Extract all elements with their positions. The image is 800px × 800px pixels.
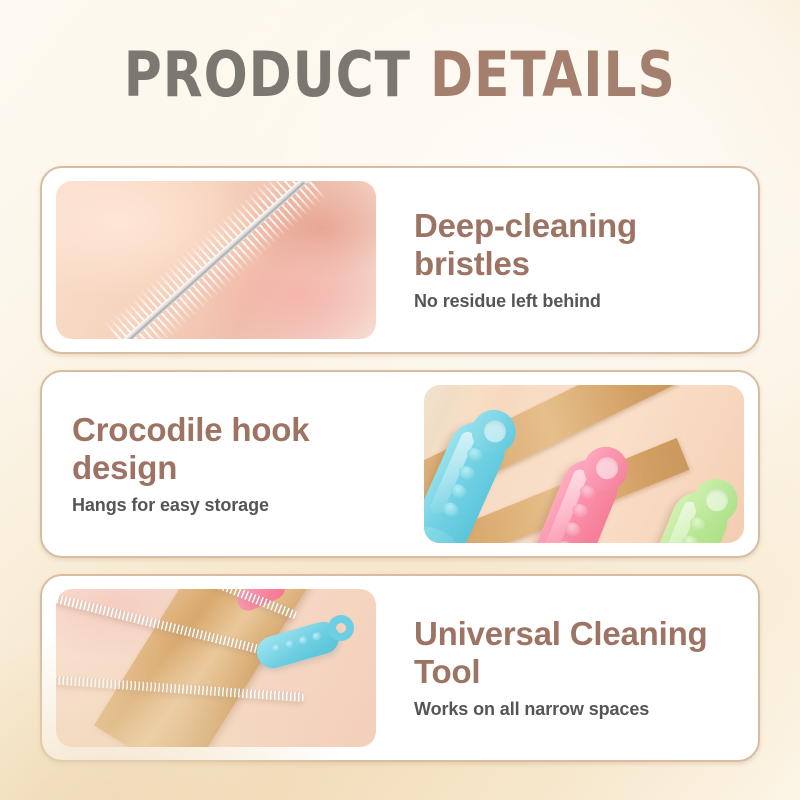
- feature-text-block: Deep-cleaning bristles No residue left b…: [390, 207, 758, 312]
- feature-headline: Crocodile hook design: [72, 411, 386, 486]
- feature-subline: No residue left behind: [414, 291, 740, 313]
- handle-bump-shape: [311, 631, 322, 641]
- feature-text-block: Universal Cleaning Tool Works on all nar…: [390, 615, 758, 720]
- feature-headline: Deep-cleaning bristles: [414, 207, 740, 282]
- crocodile-handles-photo: [424, 385, 744, 543]
- page-background: PRODUCT DETAILS Deep-cleaning bristles N…: [0, 0, 800, 800]
- feature-card-list: Deep-cleaning bristles No residue left b…: [40, 166, 760, 762]
- page-title: PRODUCT DETAILS: [0, 44, 800, 106]
- handle-snout-shape: [424, 520, 465, 543]
- title-accent: DETAILS: [430, 38, 676, 111]
- fanned-brushes-photo: [56, 589, 376, 747]
- feature-headline: Universal Cleaning Tool: [414, 615, 740, 690]
- bottle-brush-closeup-photo: [56, 181, 376, 339]
- handle-bump-shape: [298, 635, 309, 645]
- handle-bump-shape: [271, 643, 282, 653]
- crocodile-handle-green-shape: [632, 484, 736, 543]
- feature-subline: Works on all narrow spaces: [414, 699, 740, 721]
- feature-card-deep-cleaning-bristles[interactable]: Deep-cleaning bristles No residue left b…: [40, 166, 760, 354]
- title-primary: PRODUCT: [124, 38, 411, 111]
- brush-wire-shaft-shape: [121, 181, 311, 339]
- feature-card-crocodile-hook-design[interactable]: Crocodile hook design Hangs for easy sto…: [40, 370, 760, 558]
- feature-subline: Hangs for easy storage: [72, 495, 386, 517]
- feature-card-universal-cleaning-tool[interactable]: Universal Cleaning Tool Works on all nar…: [40, 574, 760, 762]
- feature-text-block: Crocodile hook design Hangs for easy sto…: [42, 411, 410, 516]
- handle-bump-shape: [285, 639, 296, 649]
- handle-bump-shape: [570, 502, 590, 520]
